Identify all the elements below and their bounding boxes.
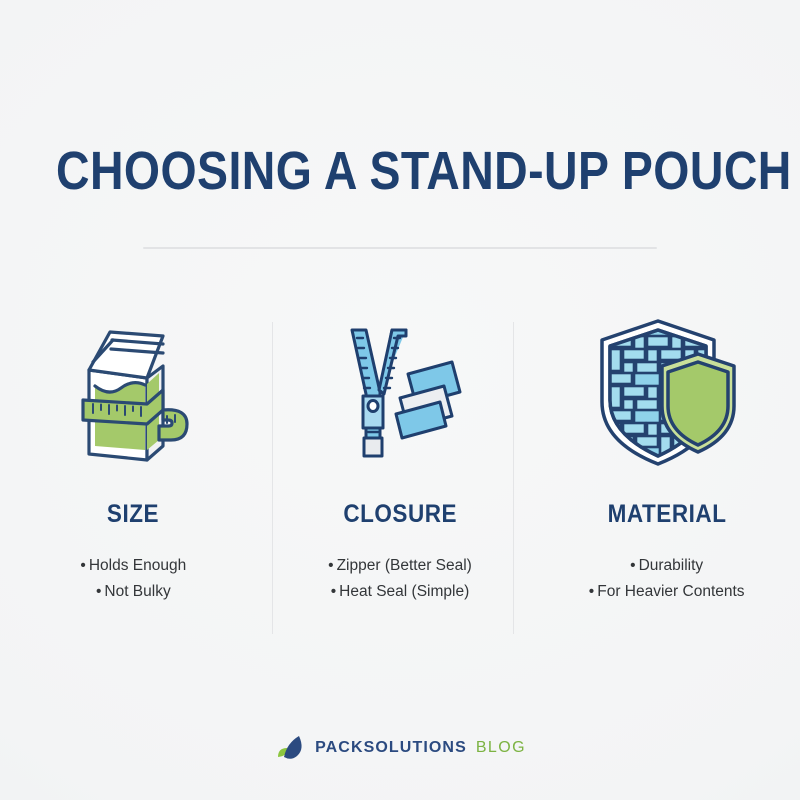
bullet-text: Not Bulky — [104, 583, 170, 600]
stand-up-pouch-with-measuring-tape-icon — [63, 318, 203, 468]
list-item: •Durability — [589, 553, 745, 579]
column-material: MATERIAL •Durability •For Heavier Conten… — [533, 318, 800, 638]
bullet-text: Heat Seal (Simple) — [339, 583, 469, 600]
column-heading-size: SIZE — [107, 500, 159, 529]
list-item: •Holds Enough — [80, 553, 186, 579]
infographic-canvas: CHOOSING A STAND-UP POUCH — [0, 0, 800, 800]
list-item: •Heat Seal (Simple) — [328, 579, 472, 605]
logo-suffix-text: BLOG — [476, 739, 526, 757]
bullet-glyph: • — [80, 557, 85, 574]
pouch-icon-slot — [63, 318, 203, 468]
shield-icon-slot — [592, 318, 742, 468]
bullet-list-size: •Holds Enough •Not Bulky — [80, 553, 186, 605]
column-heading-material: MATERIAL — [607, 500, 726, 529]
list-item: •Zipper (Better Seal) — [328, 553, 472, 579]
bullet-glyph: • — [630, 557, 635, 574]
column-closure: CLOSURE •Zipper (Better Seal) •Heat Seal… — [267, 318, 534, 638]
bullet-list-closure: •Zipper (Better Seal) •Heat Seal (Simple… — [328, 553, 472, 605]
leaf-logo-icon — [274, 735, 306, 761]
woven-shield-and-green-shield-icon — [592, 318, 742, 468]
title-divider — [143, 247, 657, 249]
columns-section: SIZE •Holds Enough •Not Bulky — [0, 318, 800, 638]
page-title: CHOOSING A STAND-UP POUCH — [56, 142, 744, 200]
column-size: SIZE •Holds Enough •Not Bulky — [0, 318, 267, 638]
green-shield-inner — [668, 362, 728, 445]
bullet-glyph: • — [331, 583, 336, 600]
bullet-text: Holds Enough — [89, 557, 186, 574]
zipper-and-heat-seal-icon — [330, 318, 470, 468]
bullet-list-material: •Durability •For Heavier Contents — [589, 553, 745, 605]
footer-logo[interactable]: PACKSOLUTIONS BLOG — [0, 735, 800, 761]
bullet-glyph: • — [328, 557, 333, 574]
bullet-glyph: • — [96, 583, 101, 600]
bullet-text: Durability — [639, 557, 704, 574]
bullet-glyph: • — [589, 583, 594, 600]
closure-icon-slot — [330, 318, 470, 468]
list-item: •Not Bulky — [80, 579, 186, 605]
logo-brand-text: PACKSOLUTIONS — [315, 739, 467, 757]
list-item: •For Heavier Contents — [589, 579, 745, 605]
column-heading-closure: CLOSURE — [343, 500, 457, 529]
bullet-text: For Heavier Contents — [597, 583, 744, 600]
bullet-text: Zipper (Better Seal) — [337, 557, 472, 574]
